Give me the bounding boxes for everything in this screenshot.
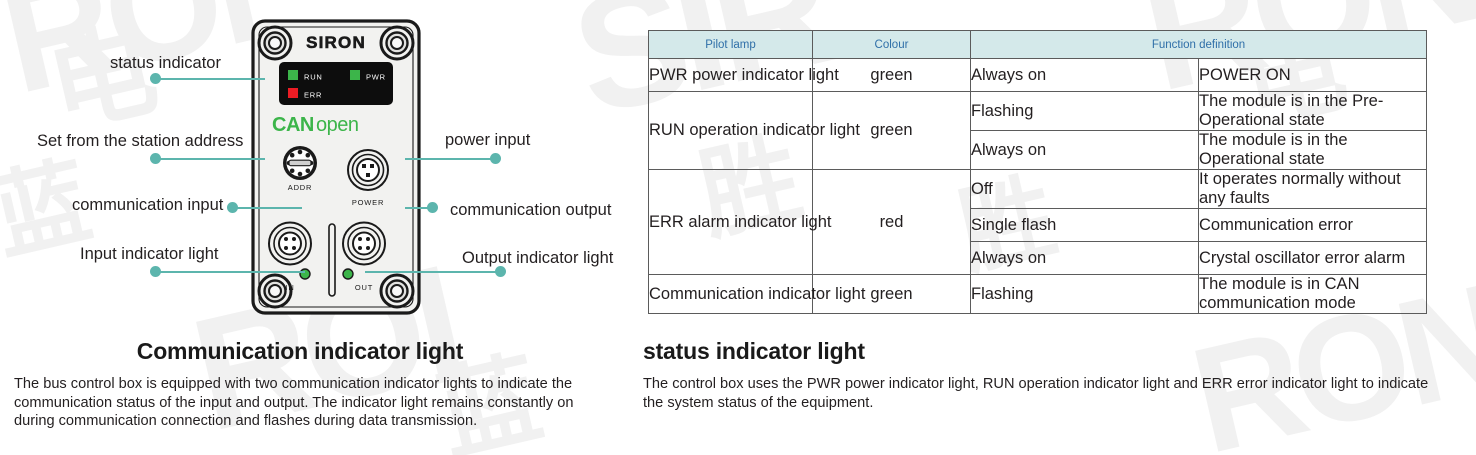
leader-dot [150, 73, 161, 84]
mount-screw-bottomright [381, 275, 413, 307]
table-row: RUN operation indicator light green Flas… [649, 92, 1427, 131]
led-run-lamp [288, 70, 298, 80]
section-title: status indicator light [643, 338, 1443, 365]
addr-rotary-switch [283, 146, 317, 180]
cell-state: Single flash [971, 209, 1199, 242]
table-header: Pilot lamp Colour Function definition [649, 31, 1427, 59]
leader-dot [150, 266, 161, 277]
section-communication-indicator-light: Communication indicator light The bus co… [0, 338, 600, 431]
cell-definition: POWER ON [1199, 59, 1427, 92]
leader-line [365, 271, 500, 273]
cell-state: Off [971, 170, 1199, 209]
cell-pilot-lamp: ERR alarm indicator light [649, 170, 813, 275]
section-body: The control box uses the PWR power indic… [643, 375, 1443, 412]
leader-line [405, 158, 495, 160]
addr-label: ADDR [288, 183, 312, 192]
cell-pilot-lamp: PWR power indicator light [649, 59, 813, 92]
cell-pilot-lamp: Communication indicator light [649, 275, 813, 314]
table-row: Communication indicator light green Flas… [649, 275, 1427, 314]
watermark-cn-topleft: 电 [40, 16, 166, 142]
th-colour: Colour [813, 31, 971, 59]
cell-definition: Crystal oscillator error alarm [1199, 242, 1427, 275]
section-title: Communication indicator light [0, 338, 600, 365]
table-row: ERR alarm indicator light red Off It ope… [649, 170, 1427, 209]
cell-state: Always on [971, 131, 1199, 170]
leader-dot [227, 202, 238, 213]
cell-definition: The module is in the Operational state [1199, 131, 1427, 170]
leader-dot [490, 153, 501, 164]
pilot-lamp-text: Communication indicator light [649, 285, 865, 304]
callout-power-input-label: power input [445, 131, 530, 150]
callout-status-indicator-label: status indicator [110, 54, 221, 73]
cell-pilot-lamp: RUN operation indicator light [649, 92, 813, 170]
mount-screw-topleft [259, 27, 291, 59]
led-err-label: ERR [304, 91, 322, 100]
th-pilot-lamp: Pilot lamp [649, 31, 813, 59]
pilot-lamp-text: ERR alarm indicator light [649, 213, 831, 232]
out-indicator-led [343, 269, 353, 279]
cell-state: Flashing [971, 275, 1199, 314]
callout-input-indicator-light-label: Input indicator light [80, 245, 219, 264]
out-connector [343, 223, 385, 265]
leader-line [155, 78, 265, 80]
section-status-indicator-light: status indicator light The control box u… [643, 338, 1443, 412]
leader-dot [150, 153, 161, 164]
canopen-logo-light: open [316, 114, 359, 136]
cell-colour: red [813, 170, 971, 275]
out-label: OUT [355, 283, 373, 292]
pilot-lamp-text: PWR power indicator light [649, 66, 839, 85]
cell-definition: The module is in the Pre-Operational sta… [1199, 92, 1427, 131]
pilot-lamp-text: RUN operation indicator light [649, 121, 860, 140]
table-body: PWR power indicator light green Always o… [649, 59, 1427, 314]
in-connector [269, 223, 311, 265]
callout-communication-output-label: communication output [450, 201, 611, 220]
in-label: IN [285, 283, 294, 292]
center-slot [329, 224, 335, 296]
table-row: PWR power indicator light green Always o… [649, 59, 1427, 92]
power-connector [348, 150, 388, 190]
callout-output-indicator-light-label: Output indicator light [462, 249, 613, 268]
cell-definition: Communication error [1199, 209, 1427, 242]
canopen-logo-bold: CAN [272, 114, 314, 136]
table-header-row: Pilot lamp Colour Function definition [649, 31, 1427, 59]
led-run-label: RUN [304, 73, 323, 82]
callout-station-address-label: Set from the station address [37, 132, 243, 151]
led-pwr-label: PWR [366, 73, 386, 82]
led-pwr-lamp [350, 70, 360, 80]
led-err-lamp [288, 88, 298, 98]
cell-state: Flashing [971, 92, 1199, 131]
callout-communication-input-label: communication input [72, 196, 223, 215]
led-window [279, 62, 393, 105]
section-body: The bus control box is equipped with two… [0, 375, 600, 431]
cell-definition: It operates normally without any faults [1199, 170, 1427, 209]
page-root: ROI 电 蓝 SIR 胜 RON 电 ROI 蓝 RON 胜 [0, 0, 1476, 455]
cell-definition: The module is in CAN communication mode [1199, 275, 1427, 314]
pilot-lamp-table: Pilot lamp Colour Function definition PW… [648, 30, 1427, 314]
cell-state: Always on [971, 242, 1199, 275]
device-brand-logo: SIRON [306, 33, 366, 52]
cell-state: Always on [971, 59, 1199, 92]
leader-dot [427, 202, 438, 213]
leader-line [237, 207, 302, 209]
th-function-definition: Function definition [971, 31, 1427, 59]
leader-line [155, 271, 305, 273]
leader-dot [495, 266, 506, 277]
power-label: POWER [352, 198, 384, 207]
mount-screw-topright [381, 27, 413, 59]
leader-line [155, 158, 265, 160]
